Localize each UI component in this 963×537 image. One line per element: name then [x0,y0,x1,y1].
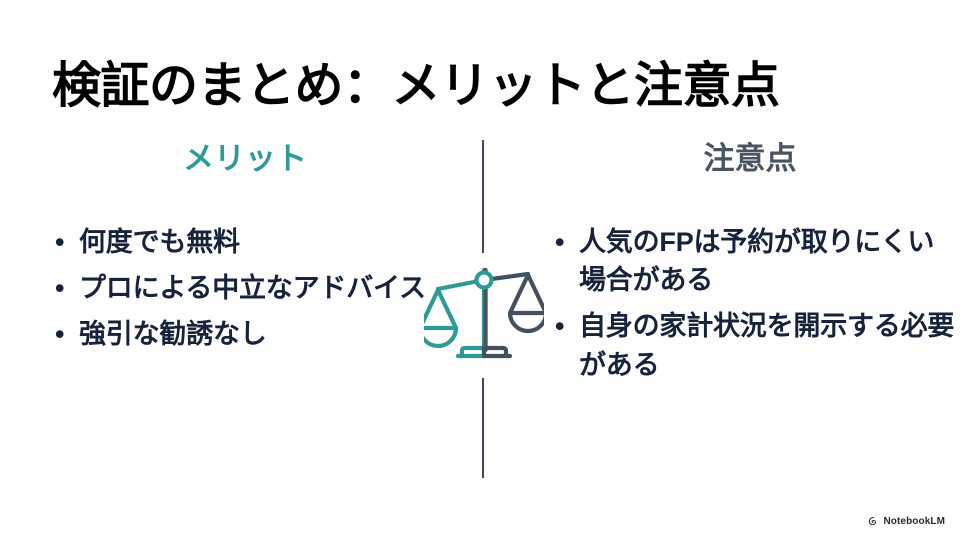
list-item: • 自身の家計状況を開示する必要がある [552,307,960,384]
list-item-label: 自身の家計状況を開示する必要がある [579,311,954,379]
balance-scale-icon [424,252,544,372]
list-item: • プロによる中立なアドバイス [52,269,460,307]
merits-list: • 何度でも無料 • プロによる中立なアドバイス • 強引な勧誘なし [52,223,460,354]
list-item: • 何度でも無料 [52,223,460,261]
list-item: • 強引な勧誘なし [52,315,460,353]
notebooklm-watermark: NotebookLM [868,516,945,527]
bullet-marker-icon: • [55,269,64,307]
bullet-marker-icon: • [55,315,64,353]
column-divider-top [482,140,484,253]
notebooklm-logo-icon [868,516,879,527]
cautions-column: 注意点 • 人気のFPは予約が取りにくい場合がある • 自身の家計状況を開示する… [540,140,960,392]
bullet-marker-icon: • [555,307,564,345]
bullet-marker-icon: • [555,223,564,261]
cautions-heading: 注意点 [540,140,960,179]
merits-heading: メリット [30,140,460,179]
list-item-label: 何度でも無料 [79,227,240,257]
slide-canvas: 検証のまとめ：メリットと注意点 メリット • 何度でも無料 • プロによる中立な… [0,0,963,537]
page-title: 検証のまとめ：メリットと注意点 [52,57,922,116]
column-divider-bottom [482,378,484,478]
list-item-label: 人気のFPは予約が取りにくい場合がある [579,227,934,295]
watermark-label: NotebookLM [883,516,945,527]
merits-column: メリット • 何度でも無料 • プロによる中立なアドバイス • 強引な勧誘なし [30,140,460,362]
bullet-marker-icon: • [55,223,64,261]
list-item-label: 強引な勧誘なし [79,319,267,349]
list-item-label: プロによる中立なアドバイス [79,273,426,303]
cautions-list: • 人気のFPは予約が取りにくい場合がある • 自身の家計状況を開示する必要があ… [552,223,960,384]
list-item: • 人気のFPは予約が取りにくい場合がある [552,223,960,300]
